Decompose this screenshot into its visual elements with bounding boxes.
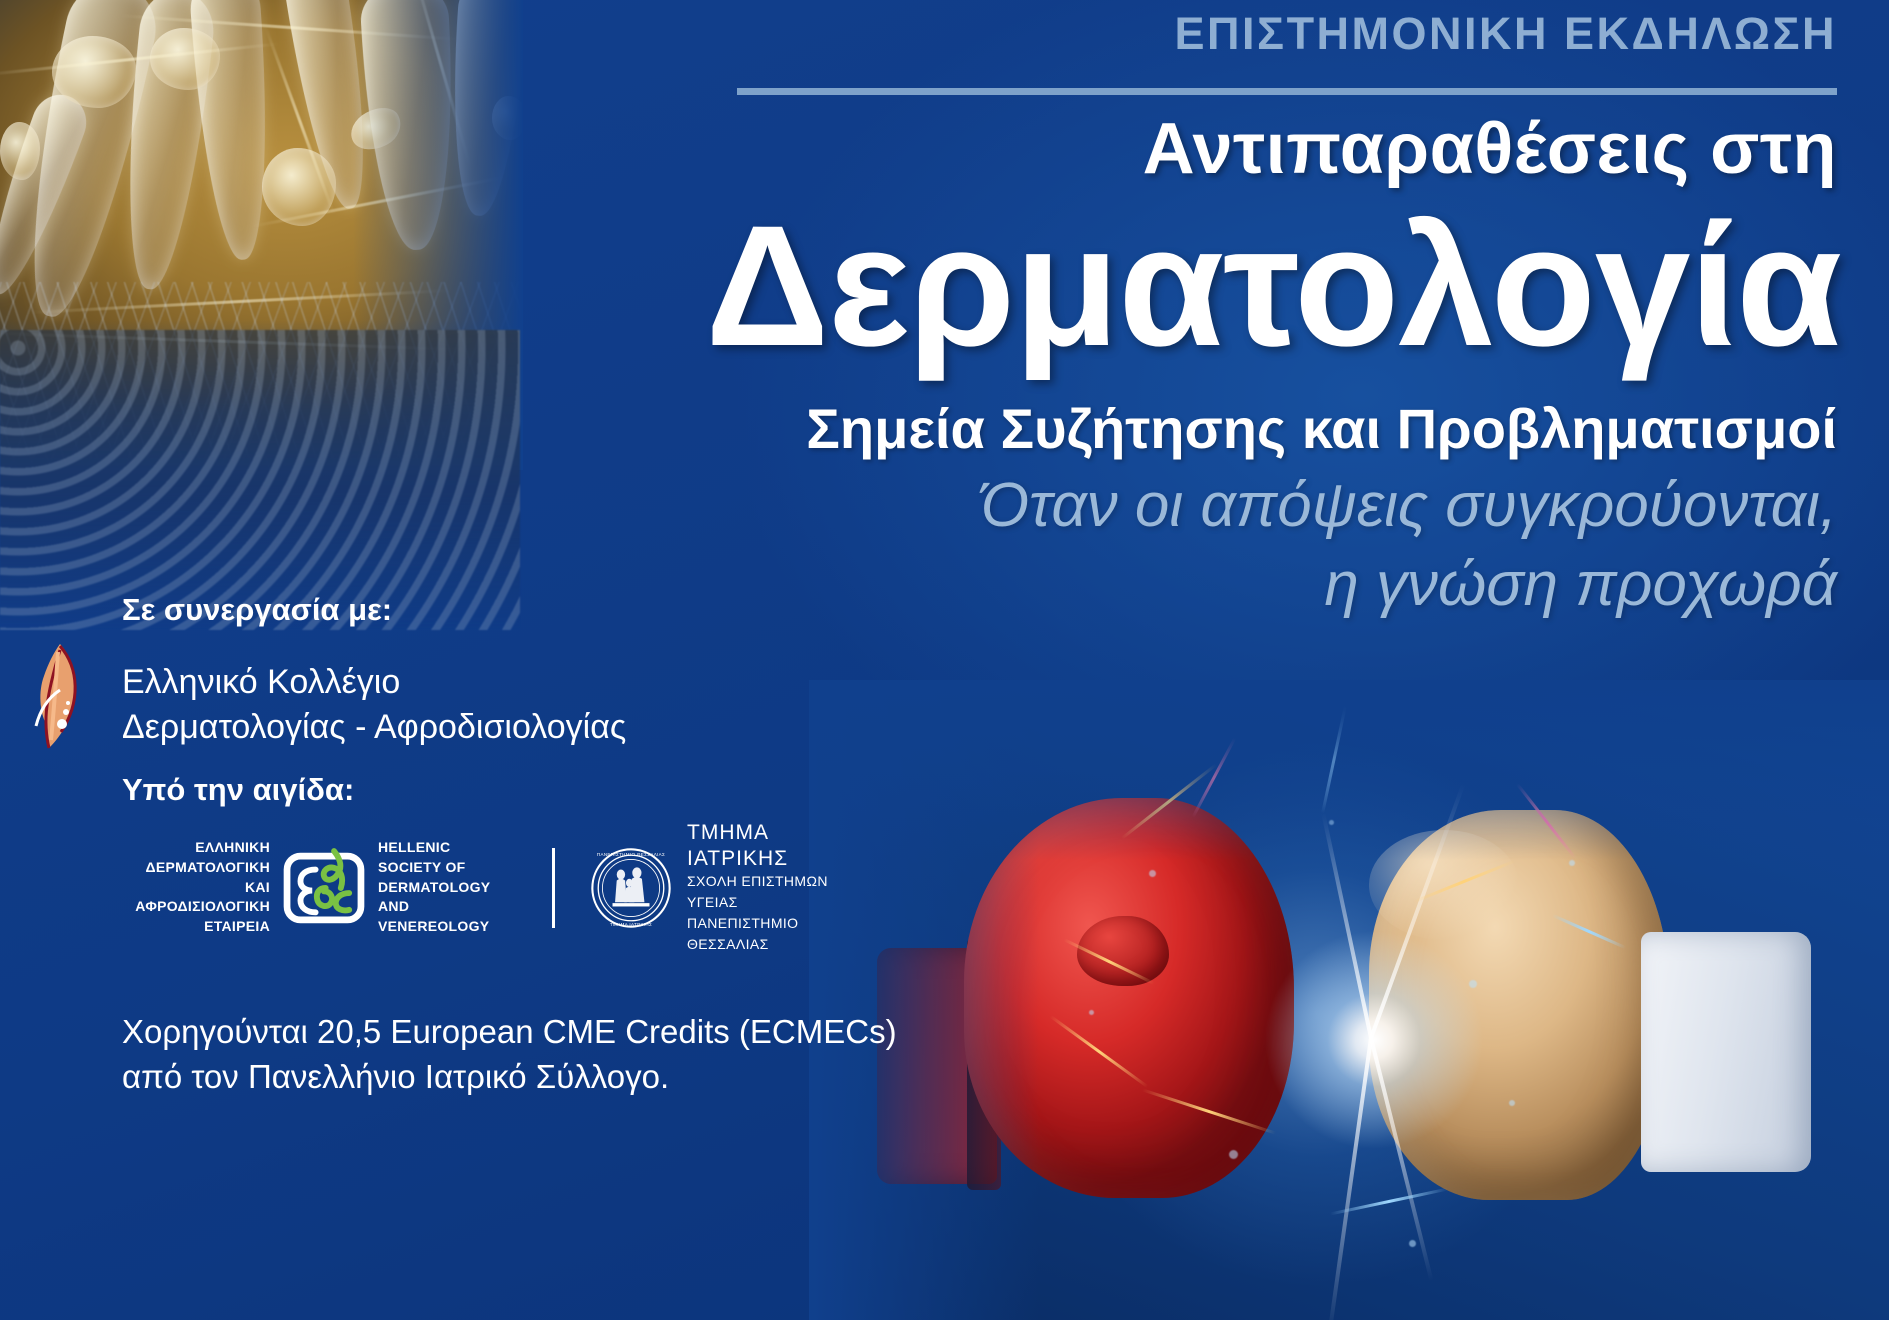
uth-line-3: ΠΑΝΕΠΙΣΤΗΜΙΟ ΘΕΣΣΑΛΙΑΣ — [687, 913, 850, 955]
auspices-logo-strip: ΕΛΛΗΝΙΚΗ ΔΕΡΜΑΤΟΛΟΓΙΚΗ ΚΑΙ ΑΦΡΟΔΙΣΙΟΛΟΓΙ… — [120, 830, 850, 945]
edae-greek-line-4: ΑΦΡΟΔΙΣΙΟΛΟΓΙΚΗ — [120, 897, 270, 917]
collaboration-org-line-1: Ελληνικό Κολλέγιο — [122, 660, 626, 705]
edae-greek-line-2: ΔΕΡΜΑΤΟΛΟΓΙΚΗ — [120, 858, 270, 878]
poster-tagline: Όταν οι απόψεις συγκρούονται, η γνώση πρ… — [537, 466, 1837, 625]
edae-greek-line-1: ΕΛΛΗΝΙΚΗ — [120, 838, 270, 858]
cme-credits-line-2: από τον Πανελλήνιο Ιατρικό Σύλλογο. — [122, 1055, 897, 1100]
edae-english-line-3: DERMATOLOGY — [378, 878, 518, 898]
tagline-line-1: Όταν οι απόψεις συγκρούονται, — [537, 466, 1837, 545]
poster-main-title: Δερματολογία — [706, 200, 1841, 372]
university-name-text: ΤΜΗΜΑ ΙΑΤΡΙΚΗΣ ΣΧΟΛΗ ΕΠΙΣΤΗΜΩΝ ΥΓΕΙΑΣ ΠΑ… — [687, 820, 850, 954]
edae-english-line-4: AND — [378, 897, 518, 917]
cme-credits-line-1: Χορηγούνται 20,5 European CME Credits (E… — [122, 1010, 897, 1055]
edae-emblem-icon — [282, 846, 366, 930]
edae-english-line-1: HELLENIC — [378, 838, 518, 858]
edae-greek-line-5: ΕΤΑΙΡΕΙΑ — [120, 917, 270, 937]
edae-english-line-5: VENEREOLOGY — [378, 917, 518, 937]
collaboration-heading: Σε συνεργασία με: — [122, 592, 392, 628]
header-divider-rule — [737, 88, 1837, 95]
leaf-flame-icon — [22, 640, 92, 750]
svg-text:ΤΜΗΜΑ ΙΑΤΡΙΚΗΣ: ΤΜΗΜΑ ΙΑΤΡΙΚΗΣ — [610, 921, 652, 926]
collaboration-organization: Ελληνικό Κολλέγιο Δερματολογίας - Αφροδι… — [122, 660, 626, 750]
auspices-heading: Υπό την αιγίδα: — [122, 772, 354, 808]
edae-english-line-2: SOCIETY OF — [378, 858, 518, 878]
title-line-1: Αντιπαραθέσεις στη — [1143, 108, 1837, 190]
university-seal-icon: ΠΑΝΕΠΙΣΤΗΜΙΟ ΘΕΣΣΑΛΙΑΣ ΤΜΗΜΑ ΙΑΤΡΙΚΗΣ — [589, 846, 673, 930]
uth-line-1: ΤΜΗΜΑ ΙΑΤΡΙΚΗΣ — [687, 820, 850, 870]
svg-text:ΠΑΝΕΠΙΣΤΗΜΙΟ ΘΕΣΣΑΛΙΑΣ: ΠΑΝΕΠΙΣΤΗΜΙΟ ΘΕΣΣΑΛΙΑΣ — [597, 852, 665, 857]
tagline-line-2: η γνώση προχωρά — [537, 545, 1837, 624]
cme-credits-note: Χορηγούνται 20,5 European CME Credits (E… — [122, 1010, 897, 1099]
university-of-thessaly-logo: ΠΑΝΕΠΙΣΤΗΜΙΟ ΘΕΣΣΑΛΙΑΣ ΤΜΗΜΑ ΙΑΤΡΙΚΗΣ ΤΜ… — [589, 820, 850, 954]
event-kicker: ΕΠΙΣΤΗΜΟΝΙΚΗ ΕΚΔΗΛΩΣΗ — [1175, 8, 1837, 60]
conference-poster: ΕΠΙΣΤΗΜΟΝΙΚΗ ΕΚΔΗΛΩΣΗ Αντιπαραθέσεις στη… — [0, 0, 1889, 1320]
edae-greek-line-3: ΚΑΙ — [120, 878, 270, 898]
edae-english-text: HELLENIC SOCIETY OF DERMATOLOGY AND VENE… — [378, 838, 518, 937]
hellenic-society-dermatology-logo: ΕΛΛΗΝΙΚΗ ΔΕΡΜΑΤΟΛΟΓΙΚΗ ΚΑΙ ΑΦΡΟΔΙΣΙΟΛΟΓΙ… — [120, 838, 518, 937]
edae-greek-text: ΕΛΛΗΝΙΚΗ ΔΕΡΜΑΤΟΛΟΓΙΚΗ ΚΑΙ ΑΦΡΟΔΙΣΙΟΛΟΓΙ… — [120, 838, 270, 937]
uth-line-2: ΣΧΟΛΗ ΕΠΙΣΤΗΜΩΝ ΥΓΕΙΑΣ — [687, 871, 850, 913]
poster-subtitle: Σημεία Συζήτησης και Προβληματισμοί — [806, 396, 1837, 461]
logo-vertical-divider — [552, 848, 555, 928]
collaboration-org-line-2: Δερματολογίας - Αφροδισιολογίας — [122, 705, 626, 750]
